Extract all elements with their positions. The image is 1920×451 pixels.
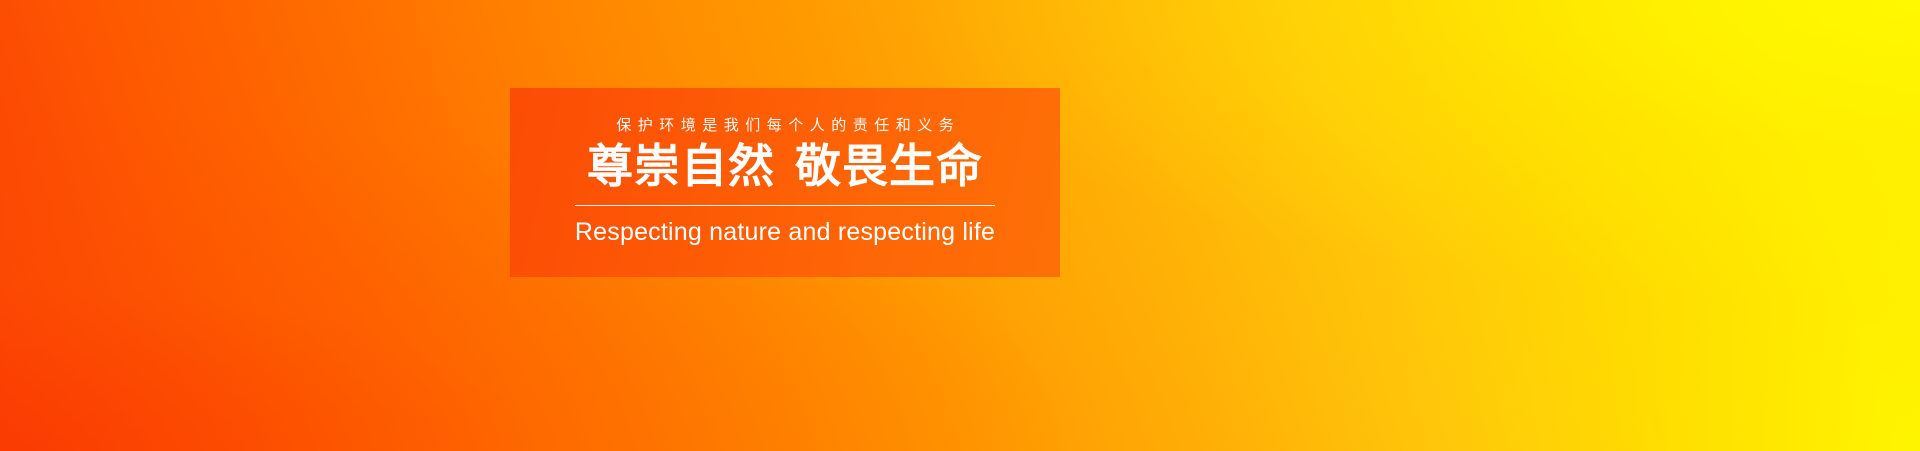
card-headline: 尊崇自然敬畏生命 <box>587 143 983 191</box>
card-subtitle: Respecting nature and respecting life <box>575 219 995 247</box>
card-tagline: 保护环境是我们每个人的责任和义务 <box>610 118 961 133</box>
card-divider <box>575 205 995 206</box>
slogan-card: 保护环境是我们每个人的责任和义务 尊崇自然敬畏生命 Respecting nat… <box>510 88 1060 277</box>
environmental-banner: 保护环境是我们每个人的责任和义务 尊崇自然敬畏生命 Respecting nat… <box>0 0 1920 451</box>
headline-segment-two: 敬畏生命 <box>795 140 983 192</box>
headline-segment-one: 尊崇自然 <box>587 140 775 192</box>
